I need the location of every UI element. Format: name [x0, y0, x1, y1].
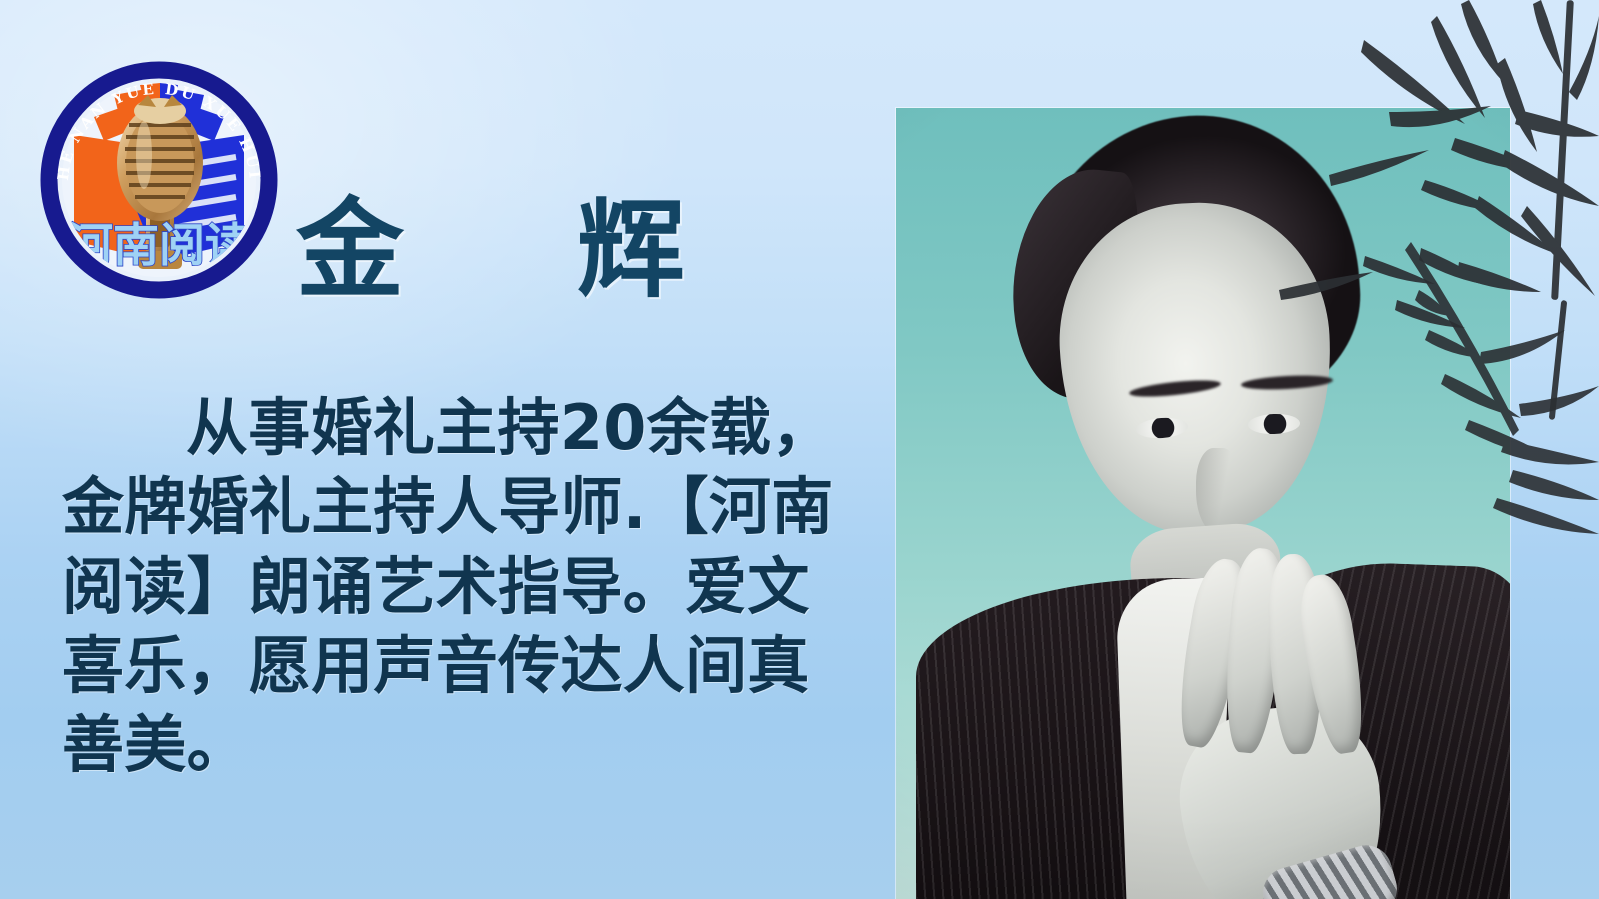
poster-canvas: 河南阅读 HE NAN YUE DU XUE HUI 金 辉 从事婚礼主持20余… — [0, 0, 1599, 899]
bio-paragraph: 从事婚礼主持20余载，金牌婚礼主持人导师.【河南阅读】朗诵艺术指导。爱文喜乐，愿… — [62, 388, 852, 785]
portrait-photo — [896, 108, 1510, 899]
photo-vignette — [896, 108, 1510, 899]
henan-reading-logo: 河南阅读 HE NAN YUE DU XUE HUI — [34, 55, 284, 305]
logo-svg: 河南阅读 HE NAN YUE DU XUE HUI — [34, 55, 284, 305]
page-title: 金 辉 — [296, 196, 717, 304]
